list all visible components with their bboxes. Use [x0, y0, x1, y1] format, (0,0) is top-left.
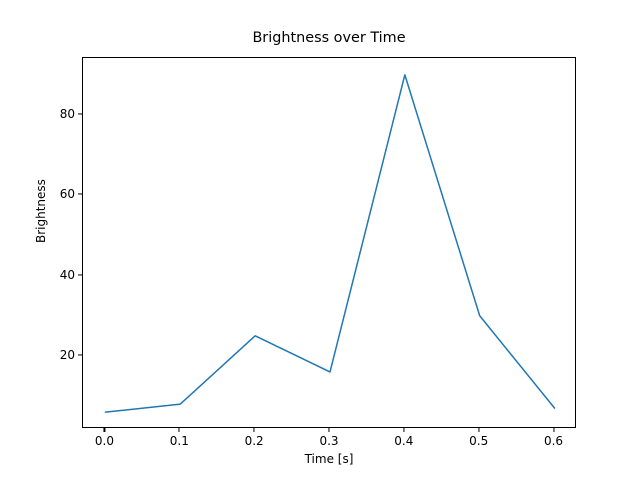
x-tick-label: 0.3 [319, 434, 338, 448]
x-tick-mark [328, 428, 329, 432]
y-axis-label: Brightness [34, 179, 48, 243]
y-tick-label: 80 [42, 107, 75, 121]
x-tick-mark [254, 428, 255, 432]
x-tick-label: 0.0 [95, 434, 114, 448]
chart-figure: Brightness over Time 0.00.10.20.30.40.50… [0, 0, 640, 480]
data-series-brightness [105, 75, 554, 412]
x-tick-label: 0.1 [170, 434, 189, 448]
y-tick-mark [78, 354, 82, 355]
x-tick-mark [179, 428, 180, 432]
y-tick-label: 20 [42, 348, 75, 362]
x-tick-mark [553, 428, 554, 432]
x-tick-mark [478, 428, 479, 432]
x-tick-label: 0.2 [245, 434, 264, 448]
x-tick-label: 0.5 [469, 434, 488, 448]
y-tick-mark [78, 113, 82, 114]
y-tick-mark [78, 194, 82, 195]
x-tick-mark [403, 428, 404, 432]
y-tick-mark [78, 274, 82, 275]
line-plot-svg [83, 58, 577, 429]
plot-axes-area [82, 57, 576, 428]
x-axis-label: Time [s] [82, 452, 576, 466]
chart-title: Brightness over Time [82, 30, 576, 47]
x-tick-mark [104, 428, 105, 432]
y-tick-label: 40 [42, 268, 75, 282]
x-tick-label: 0.4 [394, 434, 413, 448]
x-tick-label: 0.6 [544, 434, 563, 448]
